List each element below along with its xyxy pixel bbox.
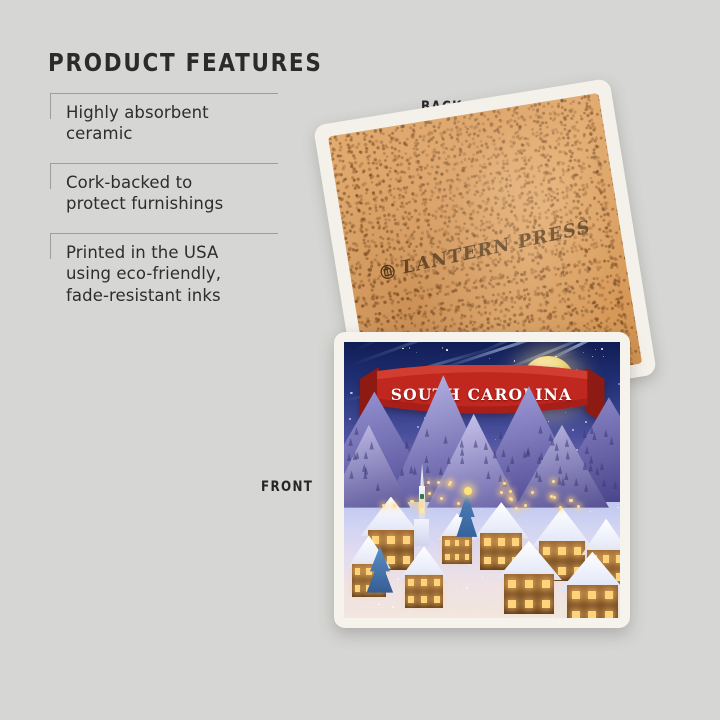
feature-text: Highly absorbent ceramic <box>66 93 348 145</box>
feature-tick <box>50 163 51 189</box>
list-item: Printed in the USA using eco-friendly, f… <box>48 233 348 306</box>
brand-name: LANTERN PRESS <box>400 216 593 278</box>
banner-text-wrap: SOUTH CAROLINA <box>358 365 606 426</box>
state-banner: SOUTH CAROLINA <box>358 365 606 426</box>
feature-tick <box>50 233 51 259</box>
lantern-icon <box>377 261 397 281</box>
feature-divider <box>50 233 278 234</box>
coaster-artwork: SOUTH CAROLINA <box>344 342 620 618</box>
list-item: Highly absorbent ceramic <box>48 93 348 145</box>
feature-divider <box>50 93 278 94</box>
feature-divider <box>50 163 278 164</box>
feature-text: Cork-backed to protect furnishings <box>66 163 348 215</box>
page-title: PRODUCT FEATURES <box>48 50 306 75</box>
coaster-front: SOUTH CAROLINA <box>334 332 630 628</box>
feature-text: Printed in the USA using eco-friendly, f… <box>66 233 348 306</box>
state-name: SOUTH CAROLINA <box>391 385 572 404</box>
product-features-panel: PRODUCT FEATURES Highly absorbent cerami… <box>48 50 348 306</box>
product-feature-graphic: PRODUCT FEATURES Highly absorbent cerami… <box>0 0 720 720</box>
list-item: Cork-backed to protect furnishings <box>48 163 348 215</box>
front-label: FRONT <box>261 479 313 495</box>
feature-tick <box>50 93 51 119</box>
brand-stamp: LANTERN PRESS <box>377 216 593 283</box>
